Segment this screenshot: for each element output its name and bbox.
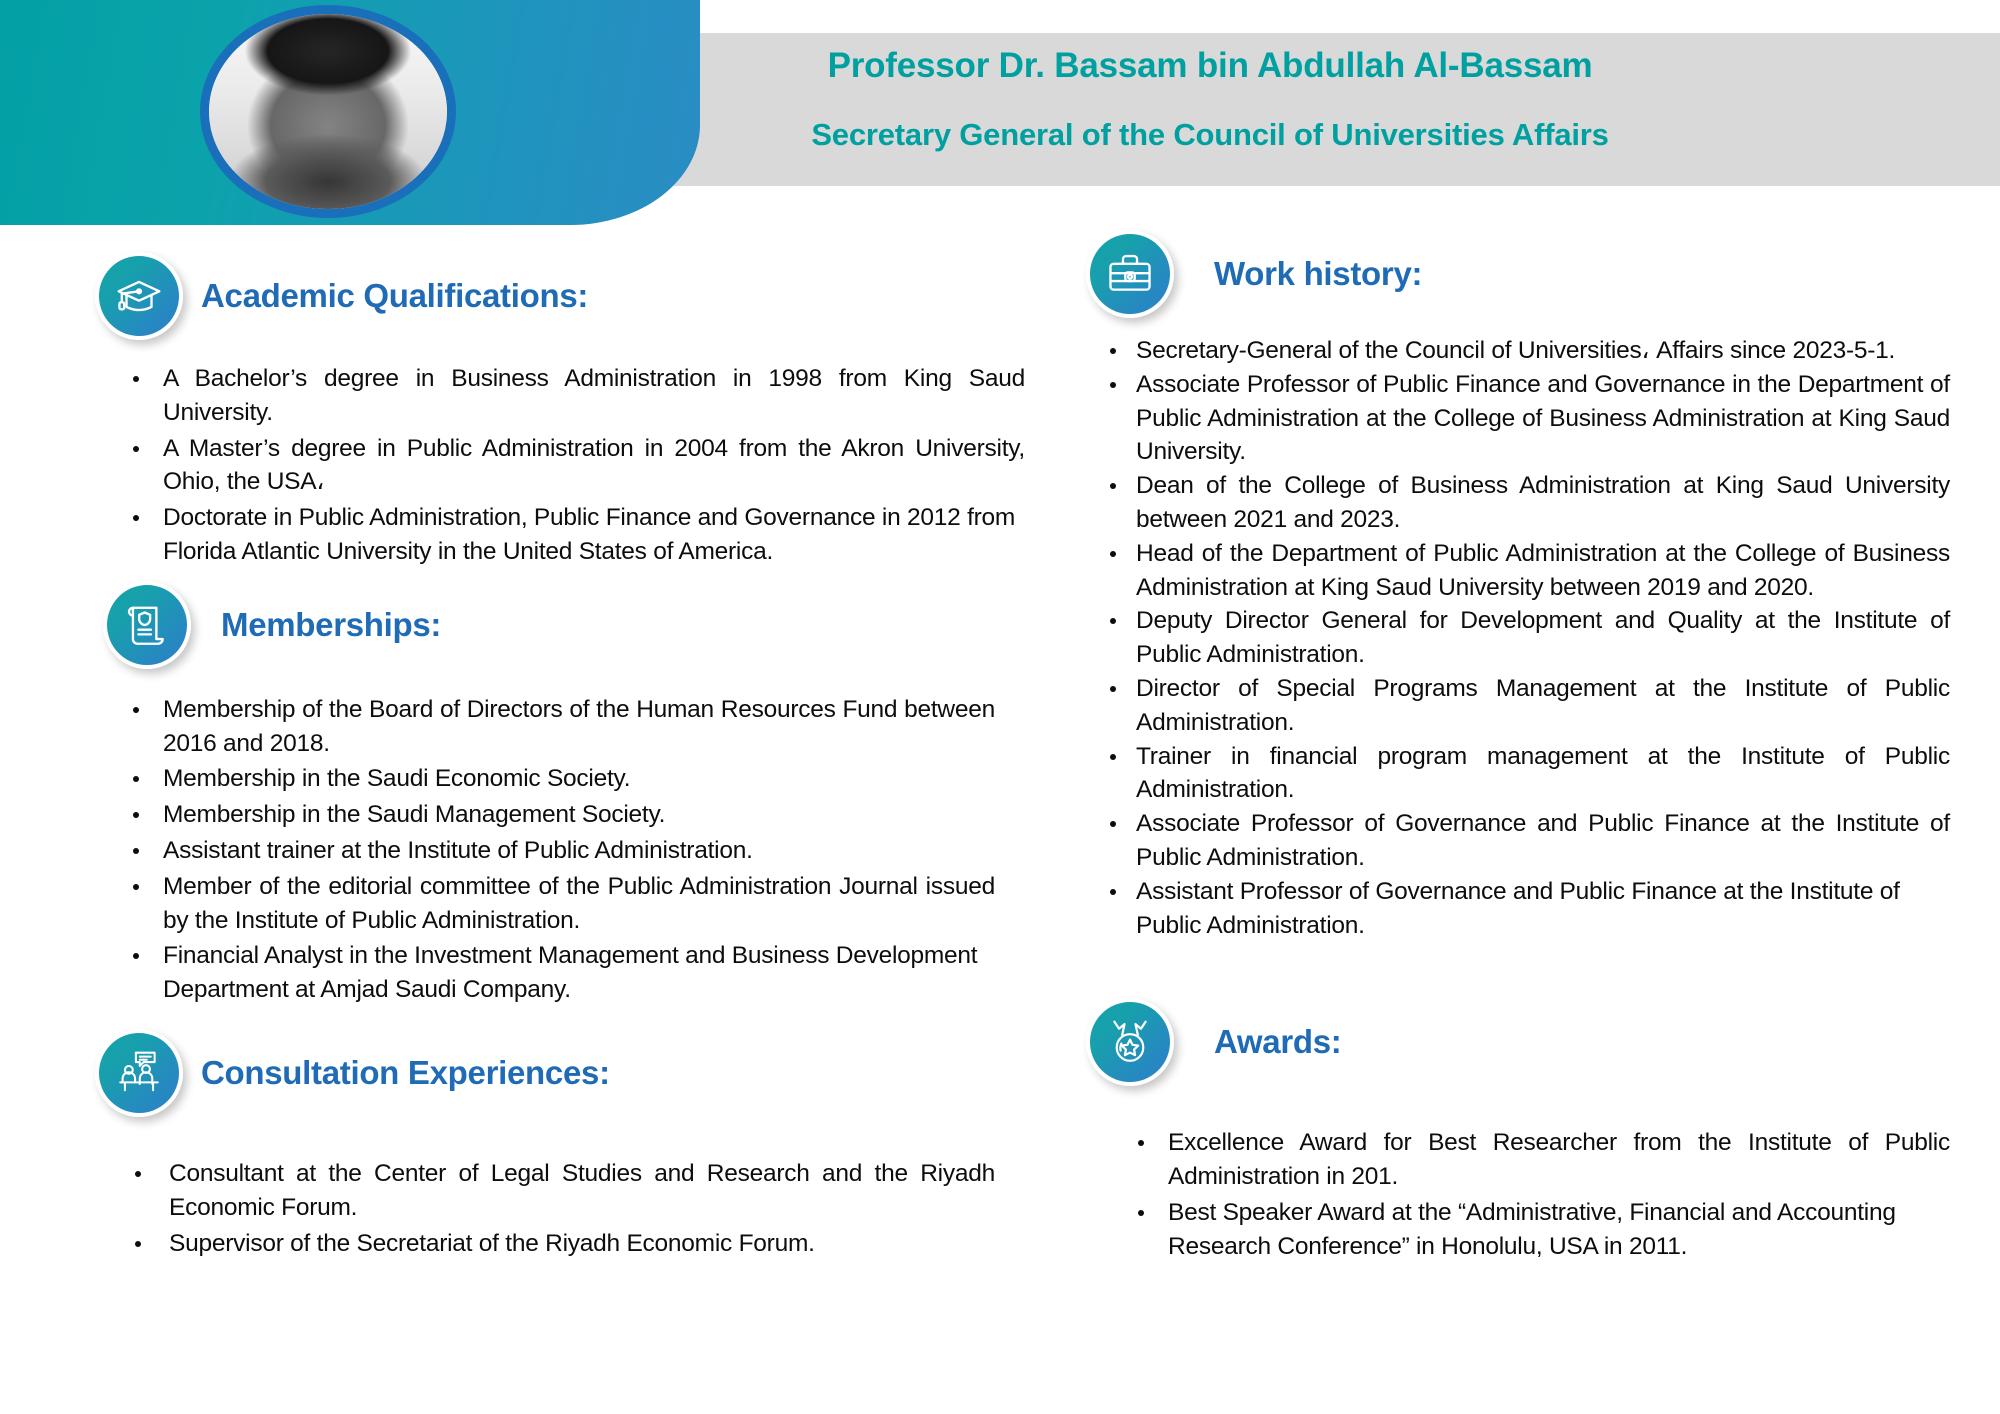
left-column: Academic Qualifications: A Bachelor’s de… (95, 225, 1055, 1262)
section-header-work: Work history: (1086, 230, 1970, 318)
list-item: Membership in the Saudi Management Socie… (95, 798, 995, 832)
memberships-bullet-list: Membership of the Board of Directors of … (95, 693, 995, 1007)
list-item: Assistant trainer at the Institute of Pu… (95, 834, 995, 868)
academic-bullet-list: A Bachelor’s degree in Business Administ… (95, 362, 1025, 569)
section-title-academic: Academic Qualifications: (201, 277, 588, 315)
awards-bullet-list: Excellence Award for Best Researcher fro… (1080, 1126, 1950, 1263)
section-header-academic: Academic Qualifications: (95, 252, 1055, 340)
section-memberships: Memberships: Membership of the Board of … (95, 581, 1055, 1007)
right-column: Work history: Secretary-General of the C… (1080, 225, 1970, 1266)
list-item: A Master’s degree in Public Administrati… (95, 432, 1025, 500)
page-title: Professor Dr. Bassam bin Abdullah Al-Bas… (430, 48, 1990, 83)
section-title-awards: Awards: (1214, 1023, 1342, 1061)
list-item: Membership of the Board of Directors of … (95, 693, 995, 761)
section-academic-qualifications: Academic Qualifications: A Bachelor’s de… (95, 252, 1055, 569)
list-item: Deputy Director General for Development … (1080, 604, 1950, 672)
profile-content: Academic Qualifications: A Bachelor’s de… (0, 225, 2000, 1414)
header-titles: Professor Dr. Bassam bin Abdullah Al-Bas… (430, 48, 1990, 150)
page-subtitle: Secretary General of the Council of Univ… (430, 119, 1990, 150)
certificate-scroll-icon (103, 581, 191, 669)
list-item: Associate Professor of Public Finance an… (1080, 368, 1950, 469)
list-item: Director of Special Programs Management … (1080, 672, 1950, 740)
list-item: Dean of the College of Business Administ… (1080, 469, 1950, 537)
avatar-photo (209, 14, 447, 209)
work-bullet-list: Secretary-General of the Council of Univ… (1080, 334, 1950, 942)
briefcase-icon (1086, 230, 1174, 318)
section-header-memberships: Memberships: (103, 581, 1055, 669)
section-work-history: Work history: Secretary-General of the C… (1080, 230, 1970, 942)
graduation-cap-icon (95, 252, 183, 340)
list-item: Supervisor of the Secretariat of the Riy… (95, 1227, 995, 1261)
consultation-meeting-icon (95, 1029, 183, 1117)
list-item: Assistant Professor of Governance and Pu… (1080, 875, 1950, 943)
section-header-consultation: Consultation Experiences: (95, 1029, 1055, 1117)
list-item: Membership in the Saudi Economic Society… (95, 762, 995, 796)
list-item: Consultant at the Center of Legal Studie… (95, 1157, 995, 1225)
list-item: Associate Professor of Governance and Pu… (1080, 807, 1950, 875)
list-item: Excellence Award for Best Researcher fro… (1080, 1126, 1950, 1194)
list-item: Secretary-General of the Council of Univ… (1080, 334, 1950, 368)
avatar-ring (200, 5, 456, 218)
list-item: Financial Analyst in the Investment Mana… (95, 939, 995, 1007)
cv-profile-page: Professor Dr. Bassam bin Abdullah Al-Bas… (0, 0, 2000, 1414)
list-item: Trainer in financial program management … (1080, 740, 1950, 808)
section-title-work: Work history: (1214, 255, 1422, 293)
list-item: A Bachelor’s degree in Business Administ… (95, 362, 1025, 430)
medal-award-icon (1086, 998, 1174, 1086)
section-consultation-experiences: Consultation Experiences: Consultant at … (95, 1029, 1055, 1260)
list-item: Doctorate in Public Administration, Publ… (95, 501, 1025, 569)
section-title-consultation: Consultation Experiences: (201, 1054, 610, 1092)
avatar (200, 5, 456, 218)
section-awards: Awards: Excellence Award for Best Resear… (1080, 998, 1970, 1263)
consultation-bullet-list: Consultant at the Center of Legal Studie… (95, 1157, 995, 1260)
list-item: Member of the editorial committee of the… (95, 870, 995, 938)
section-header-awards: Awards: (1086, 998, 1970, 1086)
section-title-memberships: Memberships: (221, 606, 441, 644)
list-item: Best Speaker Award at the “Administrativ… (1080, 1196, 1950, 1264)
profile-header: Professor Dr. Bassam bin Abdullah Al-Bas… (0, 0, 2000, 225)
list-item: Head of the Department of Public Adminis… (1080, 537, 1950, 605)
